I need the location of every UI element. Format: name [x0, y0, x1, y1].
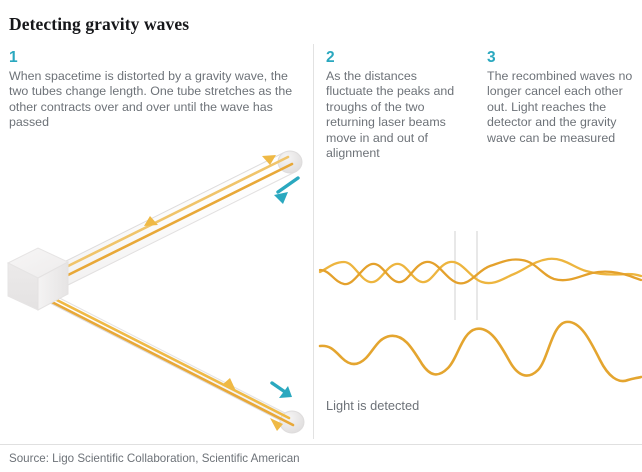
upper-tube-edge-bottom	[66, 171, 297, 286]
step-number-1: 1	[9, 50, 304, 65]
step-text-2: As the distances fluctuate the peaks and…	[326, 69, 460, 161]
upper-laser-beam-outgoing	[56, 157, 288, 272]
step-number-2: 2	[326, 50, 460, 65]
step-column-3: 3 The recombined waves no longer cancel …	[487, 50, 633, 146]
lower-stretch-arrow-icon	[272, 383, 292, 398]
upper-tube-edge-top	[52, 153, 283, 268]
lower-tube-edge-bottom	[48, 302, 297, 429]
step-column-1: 1 When spacetime is distorted by a gravi…	[9, 50, 304, 131]
upper-arm	[52, 151, 302, 286]
light-detected-label: Light is detected	[326, 398, 419, 413]
step-text-1: When spacetime is distorted by a gravity…	[9, 69, 304, 131]
upper-laser-beam-returning	[60, 164, 292, 279]
source-credit: Source: Ligo Scientific Collaboration, S…	[9, 452, 300, 465]
step-text-3: The recombined waves no longer cancel ea…	[487, 69, 633, 146]
ligo-interferometer-diagram	[0, 140, 314, 440]
recombined-wave-chart	[318, 318, 642, 403]
page-title: Detecting gravity waves	[9, 14, 189, 35]
interference-wave-chart	[318, 228, 642, 324]
infographic-page: Detecting gravity waves 1 When spacetime…	[0, 0, 642, 472]
step-number-3: 3	[487, 50, 633, 65]
lower-laser-beam-outgoing	[41, 292, 289, 418]
lower-tube-edge-top	[36, 286, 285, 413]
lower-arm	[36, 286, 304, 433]
recombined-signal-path	[320, 322, 641, 381]
step-column-2: 2 As the distances fluctuate the peaks a…	[326, 50, 460, 161]
footer-divider	[0, 444, 642, 445]
lower-laser-beam-returning	[44, 298, 293, 425]
upper-contraction-arrow-icon	[274, 178, 298, 204]
